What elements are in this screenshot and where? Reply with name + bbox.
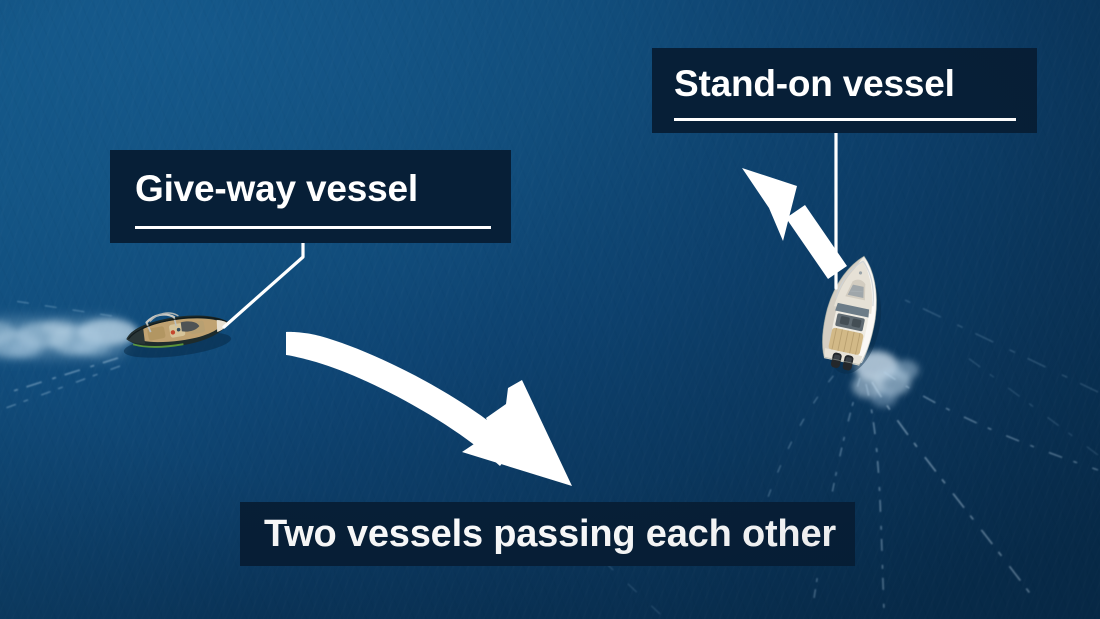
nautical-diagram-scene: Give-way vessel Stand-on vessel Two vess… [0, 0, 1100, 619]
scene-vignette [0, 0, 1100, 619]
